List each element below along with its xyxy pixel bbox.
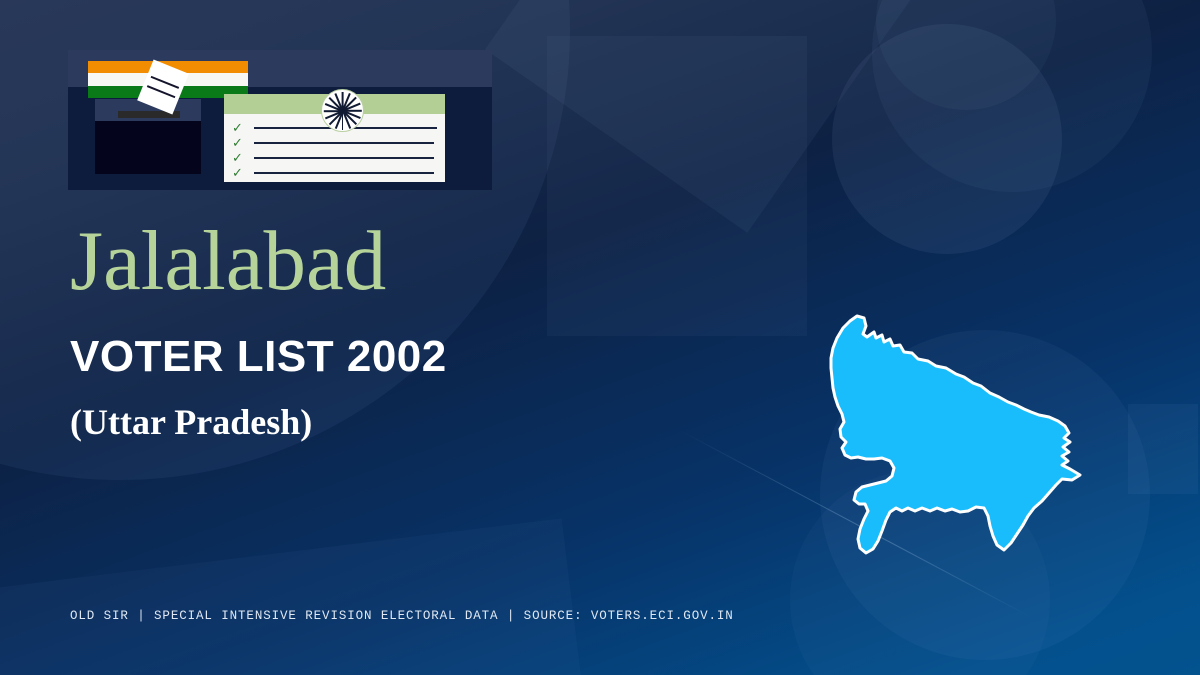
ashoka-chakra-icon (321, 89, 364, 132)
ballot-box-icon (95, 99, 201, 174)
decor-circle-top (876, 0, 1056, 110)
decor-square-right (1128, 404, 1198, 494)
state-subtitle: (Uttar Pradesh) (70, 404, 312, 440)
decor-diamond (485, 0, 931, 233)
ballot-paper-line (147, 85, 176, 98)
uttar-pradesh-shape (831, 316, 1080, 553)
decor-wedge-bottom-left (0, 518, 593, 675)
check-icon: ✓ (232, 151, 245, 164)
ballot-paper-line (151, 76, 180, 89)
checklist-line (254, 172, 434, 174)
check-icon: ✓ (232, 136, 245, 149)
election-illustration: ✓ ✓ ✓ ✓ (68, 50, 492, 190)
constituency-title: Jalalabad (70, 219, 386, 304)
document-title: VOTER LIST 2002 (70, 335, 447, 379)
footer-source-note: OLD SIR | SPECIAL INTENSIVE REVISION ELE… (70, 609, 734, 623)
ballot-box-body (95, 121, 201, 174)
decor-rectangle-top (547, 36, 807, 336)
check-icon: ✓ (232, 166, 245, 179)
checklist-row: ✓ (232, 135, 437, 150)
poster-canvas: ✓ ✓ ✓ ✓ Jalalabad VOTE (0, 0, 1200, 675)
uttar-pradesh-map-svg (818, 305, 1108, 575)
check-icon: ✓ (232, 121, 245, 134)
checklist-line (254, 157, 434, 159)
checklist-line (254, 142, 434, 144)
decor-circle-top-right (872, 0, 1152, 192)
checklist-row: ✓ (232, 150, 437, 165)
checklist-row: ✓ (232, 165, 437, 180)
decor-circle-soft (832, 24, 1062, 254)
uttar-pradesh-map (818, 305, 1108, 575)
